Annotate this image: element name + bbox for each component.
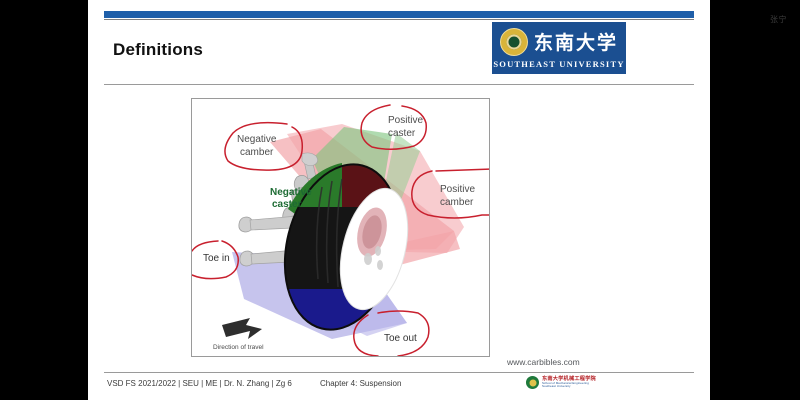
label-toe-in: Toe in <box>203 253 230 264</box>
school-logo-english-2: Southeast University <box>542 385 596 388</box>
label-toe-out: Toe out <box>384 333 417 344</box>
screen-share-view: 张宁 Definitions 东南大学 SOUTHEAST UNIVERSITY <box>0 0 800 400</box>
svg-text:Positive: Positive <box>388 115 423 126</box>
svg-text:camber: camber <box>240 147 274 158</box>
label-positive-caster: Positive caster <box>388 115 423 139</box>
footer-divider <box>104 372 694 373</box>
presentation-slide: Definitions 东南大学 SOUTHEAST UNIVERSITY <box>88 0 710 400</box>
svg-text:Positive: Positive <box>440 184 475 195</box>
svg-text:caster: caster <box>272 199 302 210</box>
svg-text:Toe out: Toe out <box>384 333 417 344</box>
school-logo-text: 东南大学机械工程学院 School of Mechanical Engineer… <box>542 377 596 389</box>
wheel-alignment-diagram: Direction of travel Negative camber Posi… <box>191 98 490 357</box>
participant-name-label: 张宁 <box>770 14 787 25</box>
svg-text:caster: caster <box>388 128 416 139</box>
image-credit: www.carbibles.com <box>507 357 580 367</box>
svg-text:camber: camber <box>440 197 474 208</box>
header-blue-bar <box>104 11 694 18</box>
label-negative-camber: Negative camber <box>237 134 277 158</box>
school-emblem-icon <box>526 376 539 389</box>
page-title: Definitions <box>113 40 203 60</box>
svg-text:Negative: Negative <box>270 187 312 198</box>
direction-of-travel-label: Direction of travel <box>213 344 264 351</box>
logo-chinese-name: 东南大学 <box>534 28 618 55</box>
school-of-mechanical-engineering-logo: 东南大学机械工程学院 School of Mechanical Engineer… <box>526 376 596 389</box>
logo-english-name: SOUTHEAST UNIVERSITY <box>493 59 624 69</box>
header-thin-rule <box>104 19 694 20</box>
direction-arrow-icon <box>222 318 262 339</box>
diagram-canvas: Direction of travel Negative camber Posi… <box>192 99 489 356</box>
logo-row: 东南大学 <box>500 28 618 56</box>
header-accent-bars <box>104 11 694 20</box>
svg-text:Toe in: Toe in <box>203 253 230 264</box>
svg-text:Negative: Negative <box>237 134 277 145</box>
southeast-university-logo: 东南大学 SOUTHEAST UNIVERSITY <box>492 22 626 74</box>
title-divider <box>104 84 694 85</box>
footer-course-info: VSD FS 2021/2022 | SEU | ME | Dr. N. Zha… <box>107 379 292 388</box>
footer-chapter-info: Chapter 4: Suspension <box>320 379 401 388</box>
seu-crest-emblem-icon <box>500 28 528 56</box>
